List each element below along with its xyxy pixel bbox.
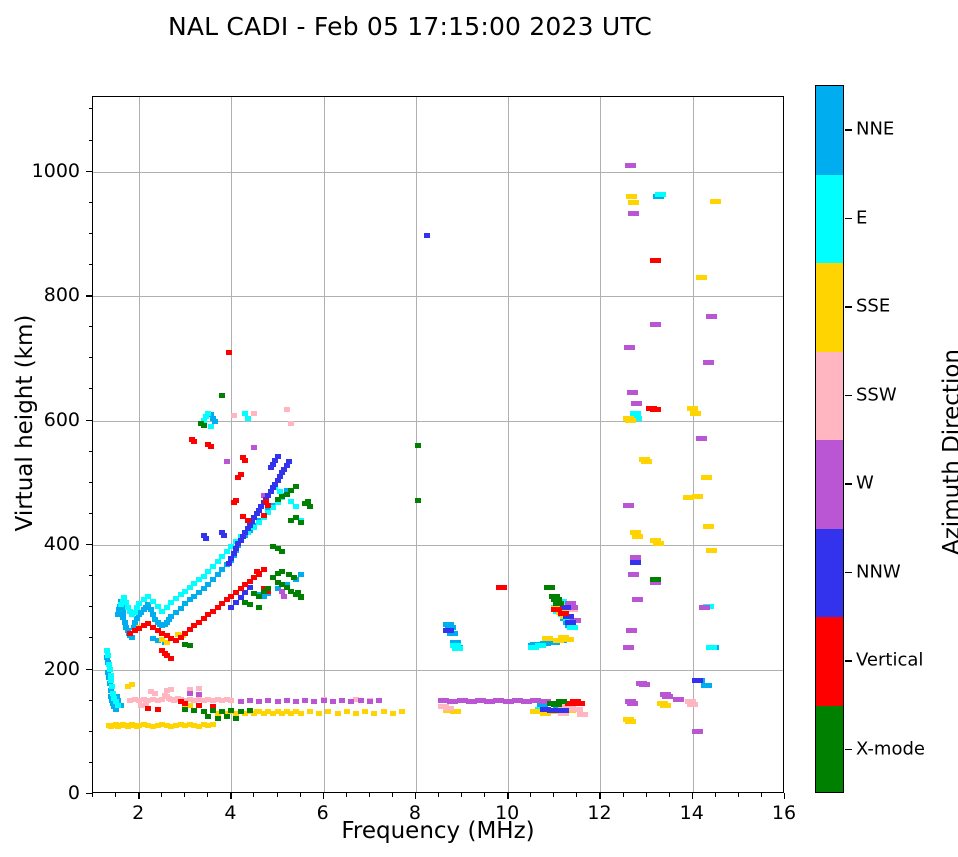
data-point [219, 554, 225, 559]
data-point [201, 574, 207, 579]
x-tick-major [415, 793, 416, 799]
data-point [627, 390, 638, 395]
x-tick-major [230, 793, 231, 799]
data-point [443, 706, 454, 711]
data-point [623, 503, 634, 508]
x-tick-major [599, 793, 600, 799]
y-tick-minor [89, 326, 93, 327]
data-point [293, 504, 299, 509]
y-tick-minor [89, 575, 93, 576]
data-point [623, 645, 634, 650]
data-point [210, 577, 216, 582]
y-tick-major [86, 295, 92, 296]
data-point [547, 708, 558, 713]
x-tick-major [138, 793, 139, 799]
data-point [692, 729, 703, 734]
data-point [696, 275, 707, 280]
data-point [152, 691, 158, 696]
x-tick-minor [115, 793, 116, 797]
data-point [565, 620, 576, 625]
data-point [233, 546, 239, 551]
data-point [245, 518, 251, 523]
data-point [129, 682, 135, 687]
data-point [265, 503, 271, 508]
y-tick-minor [89, 513, 93, 514]
gridline-vertical [139, 97, 140, 792]
data-point [293, 699, 299, 704]
gridline-horizontal [93, 421, 783, 422]
y-tick-label: 200 [2, 658, 80, 680]
data-point [687, 702, 698, 707]
data-point [358, 698, 364, 703]
data-point [660, 703, 671, 708]
data-point [628, 200, 639, 205]
data-point [256, 520, 262, 525]
x-tick-minor [715, 793, 716, 797]
data-point [626, 628, 637, 633]
data-point [226, 350, 232, 355]
data-point [650, 577, 661, 582]
data-point [362, 709, 368, 714]
data-point [542, 636, 553, 641]
page-title: NAL CADI - Feb 05 17:15:00 2023 UTC [0, 12, 820, 41]
colorbar-segment-vertical[interactable] [816, 617, 843, 706]
data-point [251, 445, 257, 450]
data-point [630, 560, 641, 565]
colorbar-label: Azimuth Direction [939, 287, 958, 617]
data-point [567, 625, 578, 630]
y-tick-minor [89, 202, 93, 203]
data-point [205, 582, 211, 587]
data-point [224, 459, 230, 464]
data-point [558, 611, 569, 616]
gridline-vertical [324, 97, 325, 792]
data-point [251, 411, 257, 416]
gridline-vertical [508, 97, 509, 792]
data-point [625, 418, 636, 423]
data-point [208, 444, 214, 449]
data-point [233, 716, 239, 721]
data-point [577, 712, 588, 717]
colorbar-tick [845, 306, 852, 308]
data-point [115, 703, 121, 708]
y-tick-minor [89, 731, 93, 732]
colorbar-segment-x-mode[interactable] [816, 706, 843, 794]
data-point [701, 475, 712, 480]
data-point [344, 709, 350, 714]
data-point [228, 605, 234, 610]
data-point [305, 499, 311, 504]
data-point [399, 709, 405, 714]
data-point [256, 572, 262, 577]
data-point [496, 585, 507, 590]
data-point [219, 393, 225, 398]
data-point [628, 572, 639, 577]
data-point [424, 233, 430, 238]
y-tick-minor [89, 264, 93, 265]
y-tick-label: 0 [2, 782, 80, 804]
data-point [196, 686, 202, 691]
gridline-horizontal [93, 670, 783, 671]
x-tick-minor [761, 793, 762, 797]
x-tick-minor [669, 793, 670, 797]
colorbar-label-vertical: Vertical [856, 650, 923, 671]
azimuth-colorbar[interactable] [815, 85, 844, 793]
colorbar-label-nnw: NNW [856, 561, 901, 582]
data-point [650, 258, 661, 263]
y-tick-minor [89, 140, 93, 141]
data-point [628, 211, 639, 216]
data-point [224, 549, 230, 554]
data-point [187, 691, 193, 696]
data-point [208, 424, 214, 429]
data-point [107, 667, 113, 672]
data-point [625, 163, 636, 168]
data-point [182, 707, 188, 712]
y-tick-minor [89, 637, 93, 638]
x-tick-minor [92, 793, 93, 797]
x-tick-minor [300, 793, 301, 797]
data-point [256, 605, 262, 610]
data-point [302, 698, 308, 703]
y-tick-minor [89, 388, 93, 389]
data-point [288, 421, 294, 426]
y-tick-minor [89, 700, 93, 701]
y-tick-major [86, 420, 92, 421]
data-point [558, 708, 569, 713]
data-point [307, 709, 313, 714]
data-point [335, 711, 341, 716]
colorbar-tick [845, 483, 852, 485]
x-tick-minor [392, 793, 393, 797]
y-tick-minor [89, 233, 93, 234]
x-tick-minor [553, 793, 554, 797]
data-point [145, 706, 151, 711]
data-point [228, 708, 234, 713]
data-point [203, 536, 209, 541]
data-point [256, 594, 262, 599]
data-point [415, 443, 421, 448]
data-point [279, 549, 285, 554]
data-point [132, 610, 138, 615]
data-point [226, 561, 232, 566]
x-tick-major [784, 793, 785, 799]
x-tick-minor [738, 793, 739, 797]
x-tick-minor [576, 793, 577, 797]
data-point [632, 597, 643, 602]
data-point [155, 707, 161, 712]
data-point [683, 495, 694, 500]
data-point [284, 407, 290, 412]
data-point [553, 601, 564, 606]
x-tick-minor [461, 793, 462, 797]
data-point [201, 423, 207, 428]
data-point [650, 322, 661, 327]
data-point [224, 714, 230, 719]
data-point [662, 694, 673, 699]
data-point [231, 413, 237, 418]
data-point [191, 439, 197, 444]
data-point [215, 559, 221, 564]
x-tick-minor [646, 793, 647, 797]
colorbar-tick [845, 395, 852, 397]
x-tick-minor [369, 793, 370, 797]
data-point [625, 719, 636, 724]
data-point [653, 541, 664, 546]
plot-area [92, 96, 784, 793]
colorbar-label-nne: NNE [856, 119, 894, 140]
data-point [627, 701, 638, 706]
data-point [247, 602, 253, 607]
data-point [168, 656, 174, 661]
data-point [703, 524, 714, 529]
data-point [690, 411, 701, 416]
x-axis-label: Frequency (MHz) [92, 818, 784, 844]
data-point [247, 698, 253, 703]
colorbar-tick [845, 218, 852, 220]
data-point [544, 585, 555, 590]
colorbar-label-ssw: SSW [856, 384, 897, 405]
colorbar-label-x-mode: X-mode [856, 738, 925, 759]
data-point [279, 569, 285, 574]
data-point [673, 697, 684, 702]
colorbar-segment-e[interactable] [816, 175, 843, 264]
x-tick-minor [484, 793, 485, 797]
y-tick-major [86, 793, 92, 794]
data-point [105, 653, 111, 658]
data-point [108, 678, 114, 683]
data-point [261, 513, 267, 518]
data-point [696, 436, 707, 441]
data-point [205, 714, 211, 719]
data-point [284, 698, 290, 703]
data-point [376, 698, 382, 703]
y-tick-major [86, 669, 92, 670]
gridline-horizontal [93, 172, 783, 173]
data-point [710, 199, 721, 204]
x-tick-minor [184, 793, 185, 797]
data-point [221, 533, 227, 538]
data-point [196, 692, 202, 697]
data-point [311, 699, 317, 704]
data-point [699, 605, 710, 610]
data-point [632, 534, 643, 539]
colorbar-label-w: W [856, 473, 874, 494]
data-point [307, 504, 313, 509]
data-point [178, 606, 184, 611]
data-point [706, 314, 717, 319]
colorbar-tick [845, 129, 852, 131]
gridline-vertical [231, 97, 232, 792]
data-point [231, 551, 237, 556]
x-tick-minor [438, 793, 439, 797]
x-tick-minor [161, 793, 162, 797]
x-tick-major [507, 793, 508, 799]
data-point [164, 605, 170, 610]
x-tick-minor [530, 793, 531, 797]
x-tick-major [323, 793, 324, 799]
data-point [390, 711, 396, 716]
data-point [182, 701, 188, 706]
gridline-vertical [600, 97, 601, 792]
data-point [298, 520, 304, 525]
data-point [233, 600, 239, 605]
data-point [238, 709, 244, 714]
data-point [325, 709, 331, 714]
data-point [256, 699, 262, 704]
data-point [371, 711, 377, 716]
data-point [321, 698, 327, 703]
data-point [281, 594, 287, 599]
data-point [381, 709, 387, 714]
data-point [330, 699, 336, 704]
data-point [286, 459, 292, 464]
data-point [339, 698, 345, 703]
gridline-horizontal [93, 545, 783, 546]
data-point [348, 699, 354, 704]
data-point [215, 716, 221, 721]
y-tick-minor [89, 451, 93, 452]
data-point [228, 698, 234, 703]
y-tick-major [86, 544, 92, 545]
data-point [641, 459, 652, 464]
colorbar-tick [845, 572, 852, 574]
data-point [639, 682, 650, 687]
data-point [655, 192, 666, 197]
data-point [298, 572, 304, 577]
data-point [706, 645, 717, 650]
data-point [238, 699, 244, 704]
data-point [624, 345, 635, 350]
data-point [626, 194, 637, 199]
y-tick-minor [89, 606, 93, 607]
colorbar-segment-nnw[interactable] [816, 529, 843, 618]
data-point [187, 643, 193, 648]
data-point [168, 687, 174, 692]
x-tick-minor [207, 793, 208, 797]
data-point [631, 401, 642, 406]
y-tick-minor [89, 108, 93, 109]
x-tick-major [692, 793, 693, 799]
data-point [210, 722, 216, 727]
data-point [563, 637, 574, 642]
data-point [109, 684, 115, 689]
data-point [646, 406, 657, 411]
data-point [247, 708, 253, 713]
data-point [231, 500, 237, 505]
y-tick-label: 1000 [2, 160, 80, 182]
colorbar-segment-ssw[interactable] [816, 352, 843, 441]
x-tick-minor [277, 793, 278, 797]
ionogram-figure: NAL CADI - Feb 05 17:15:00 2023 UTC 2468… [0, 0, 958, 857]
data-point [242, 458, 248, 463]
y-tick-major [86, 171, 92, 172]
data-point [275, 497, 281, 502]
data-point [275, 699, 281, 704]
data-point [703, 360, 714, 365]
data-point [316, 711, 322, 716]
data-point [701, 683, 712, 688]
data-point [265, 698, 271, 703]
x-tick-minor [346, 793, 347, 797]
colorbar-label-e: E [856, 207, 867, 228]
data-point [245, 416, 251, 421]
data-point [298, 711, 304, 716]
gridline-vertical [693, 97, 694, 792]
data-point [443, 628, 454, 633]
data-point [367, 699, 373, 704]
data-point [228, 556, 234, 561]
y-axis-label: Virtual height (km) [12, 263, 38, 583]
data-point [113, 707, 119, 712]
data-point [215, 572, 221, 577]
data-point [535, 643, 546, 648]
data-point [291, 575, 297, 580]
data-point [191, 708, 197, 713]
data-point [556, 699, 567, 704]
data-point [235, 475, 241, 480]
data-point [353, 711, 359, 716]
data-point [265, 586, 271, 591]
x-tick-minor [253, 793, 254, 797]
data-point [415, 498, 421, 503]
gridline-horizontal [93, 296, 783, 297]
data-point [254, 709, 260, 714]
x-tick-minor [623, 793, 624, 797]
data-point [288, 518, 294, 523]
y-tick-minor [89, 482, 93, 483]
data-point [219, 567, 225, 572]
y-tick-minor [89, 762, 93, 763]
colorbar-tick [845, 660, 852, 662]
data-point [210, 564, 216, 569]
y-tick-minor [89, 357, 93, 358]
data-point [706, 548, 717, 553]
data-point [452, 646, 463, 651]
data-point [205, 569, 211, 574]
colorbar-label-sse: SSE [856, 296, 890, 317]
data-point [275, 454, 281, 459]
colorbar-segment-w[interactable] [816, 440, 843, 529]
data-point [692, 678, 703, 683]
colorbar-segment-sse[interactable] [816, 263, 843, 352]
colorbar-segment-nne[interactable] [816, 86, 843, 175]
data-point [298, 594, 304, 599]
data-point [210, 708, 216, 713]
colorbar-tick [845, 749, 852, 751]
